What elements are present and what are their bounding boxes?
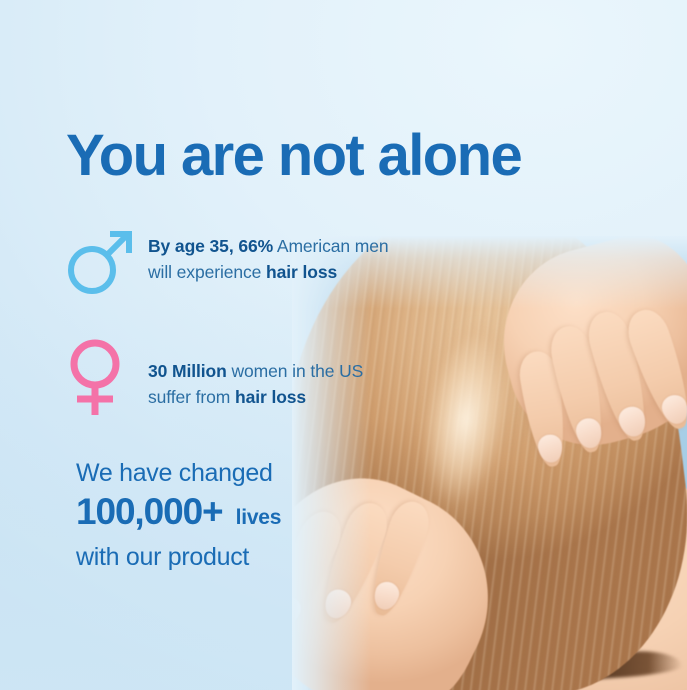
lives-changed-line-2: 100,000+ lives <box>76 490 281 540</box>
stat-block-men: By age 35, 66% American men will experie… <box>62 224 389 300</box>
stat-women-line-2-rest: suffer from <box>148 387 235 407</box>
lives-changed-block: We have changed 100,000+ lives with our … <box>76 456 281 574</box>
lives-changed-line-1: We have changed <box>76 456 281 490</box>
stat-women-line-2-bold: hair loss <box>235 387 306 407</box>
male-gender-symbol-icon <box>62 224 148 300</box>
stat-men-line-1-rest: American men <box>273 236 388 256</box>
lives-changed-unit: lives <box>236 496 282 540</box>
stat-women-line-1-bold: 30 Million <box>148 361 227 381</box>
female-gender-symbol-icon <box>62 336 148 418</box>
stat-text-men: By age 35, 66% American men will experie… <box>148 224 389 285</box>
hair-loss-promo-poster: You are not alone By age 35, 66% America… <box>0 0 687 690</box>
stat-men-line-2-bold: hair loss <box>266 262 337 282</box>
stat-women-line-1: 30 Million women in the US <box>148 358 363 384</box>
stat-women-line-1-rest: women in the US <box>227 361 364 381</box>
stat-block-women: 30 Million women in the US suffer from h… <box>62 336 363 418</box>
lives-changed-count: 100,000+ <box>76 490 223 534</box>
stat-men-line-1-bold: By age 35, 66% <box>148 236 273 256</box>
stat-men-line-2-rest: will experience <box>148 262 266 282</box>
stat-men-line-1: By age 35, 66% American men <box>148 233 389 259</box>
stat-women-line-2: suffer from hair loss <box>148 384 363 410</box>
stat-men-line-2: will experience hair loss <box>148 259 389 285</box>
lives-changed-line-3: with our product <box>76 540 281 574</box>
stat-text-women: 30 Million women in the US suffer from h… <box>148 336 363 410</box>
page-title: You are not alone <box>66 122 521 189</box>
poster-content: You are not alone By age 35, 66% America… <box>0 0 687 690</box>
